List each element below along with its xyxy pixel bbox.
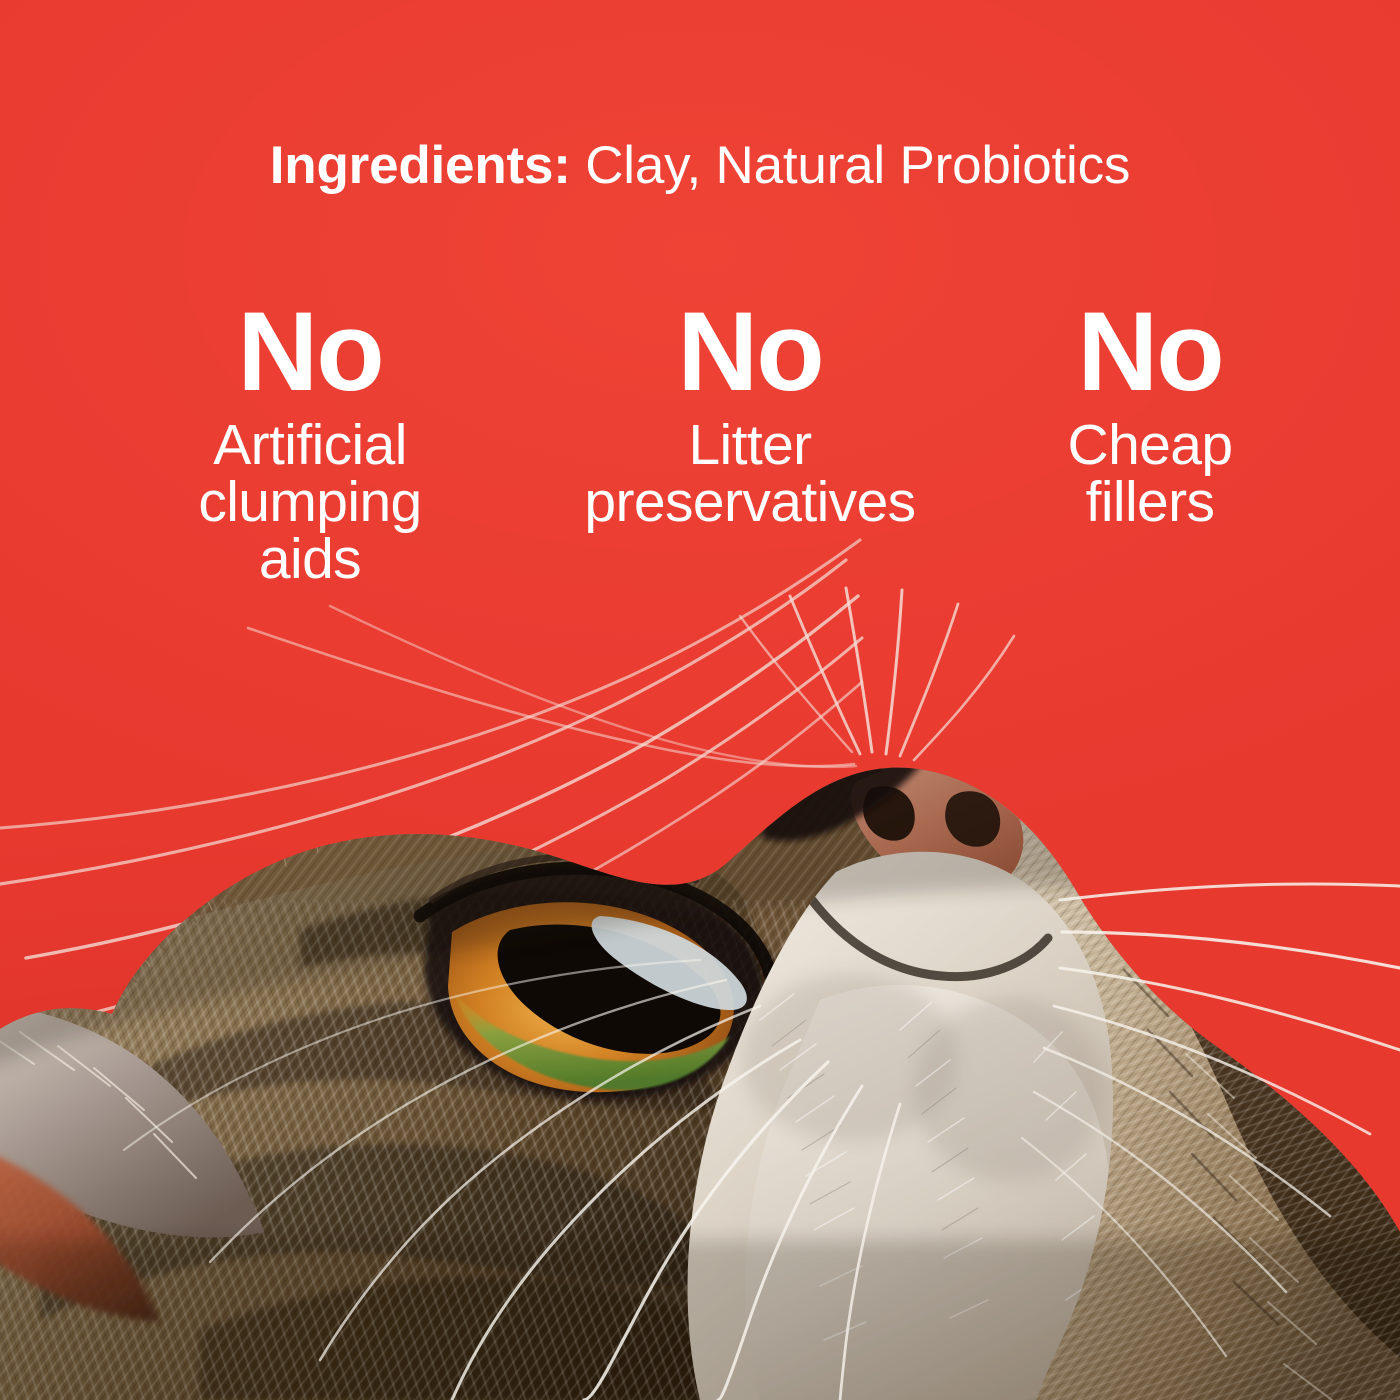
claim-2-text: Litter preservatives — [510, 417, 990, 531]
claim-3-text: Cheap fillers — [1000, 417, 1300, 531]
claim-2-no-label: No — [510, 300, 990, 403]
claim-3-no-label: No — [1000, 300, 1300, 403]
ingredients-value: Clay, Natural Probiotics — [571, 136, 1131, 195]
claim-cheap-fillers: No Cheap fillers — [1000, 300, 1300, 531]
claim-1-no-label: No — [110, 300, 510, 403]
claim-litter-preservatives: No Litter preservatives — [510, 300, 990, 531]
claim-1-text: Artificial clumping aids — [110, 417, 510, 588]
background-shading — [0, 0, 1400, 1400]
ingredients-headline: Ingredients: Clay, Natural Probiotics — [0, 138, 1400, 194]
ingredients-label: Ingredients: — [270, 136, 571, 195]
claim-artificial-clumping-aids: No Artificial clumping aids — [110, 300, 510, 588]
claims-row: No Artificial clumping aids No Litter pr… — [0, 300, 1400, 630]
poster-canvas: Ingredients: Clay, Natural Probiotics No… — [0, 0, 1400, 1400]
